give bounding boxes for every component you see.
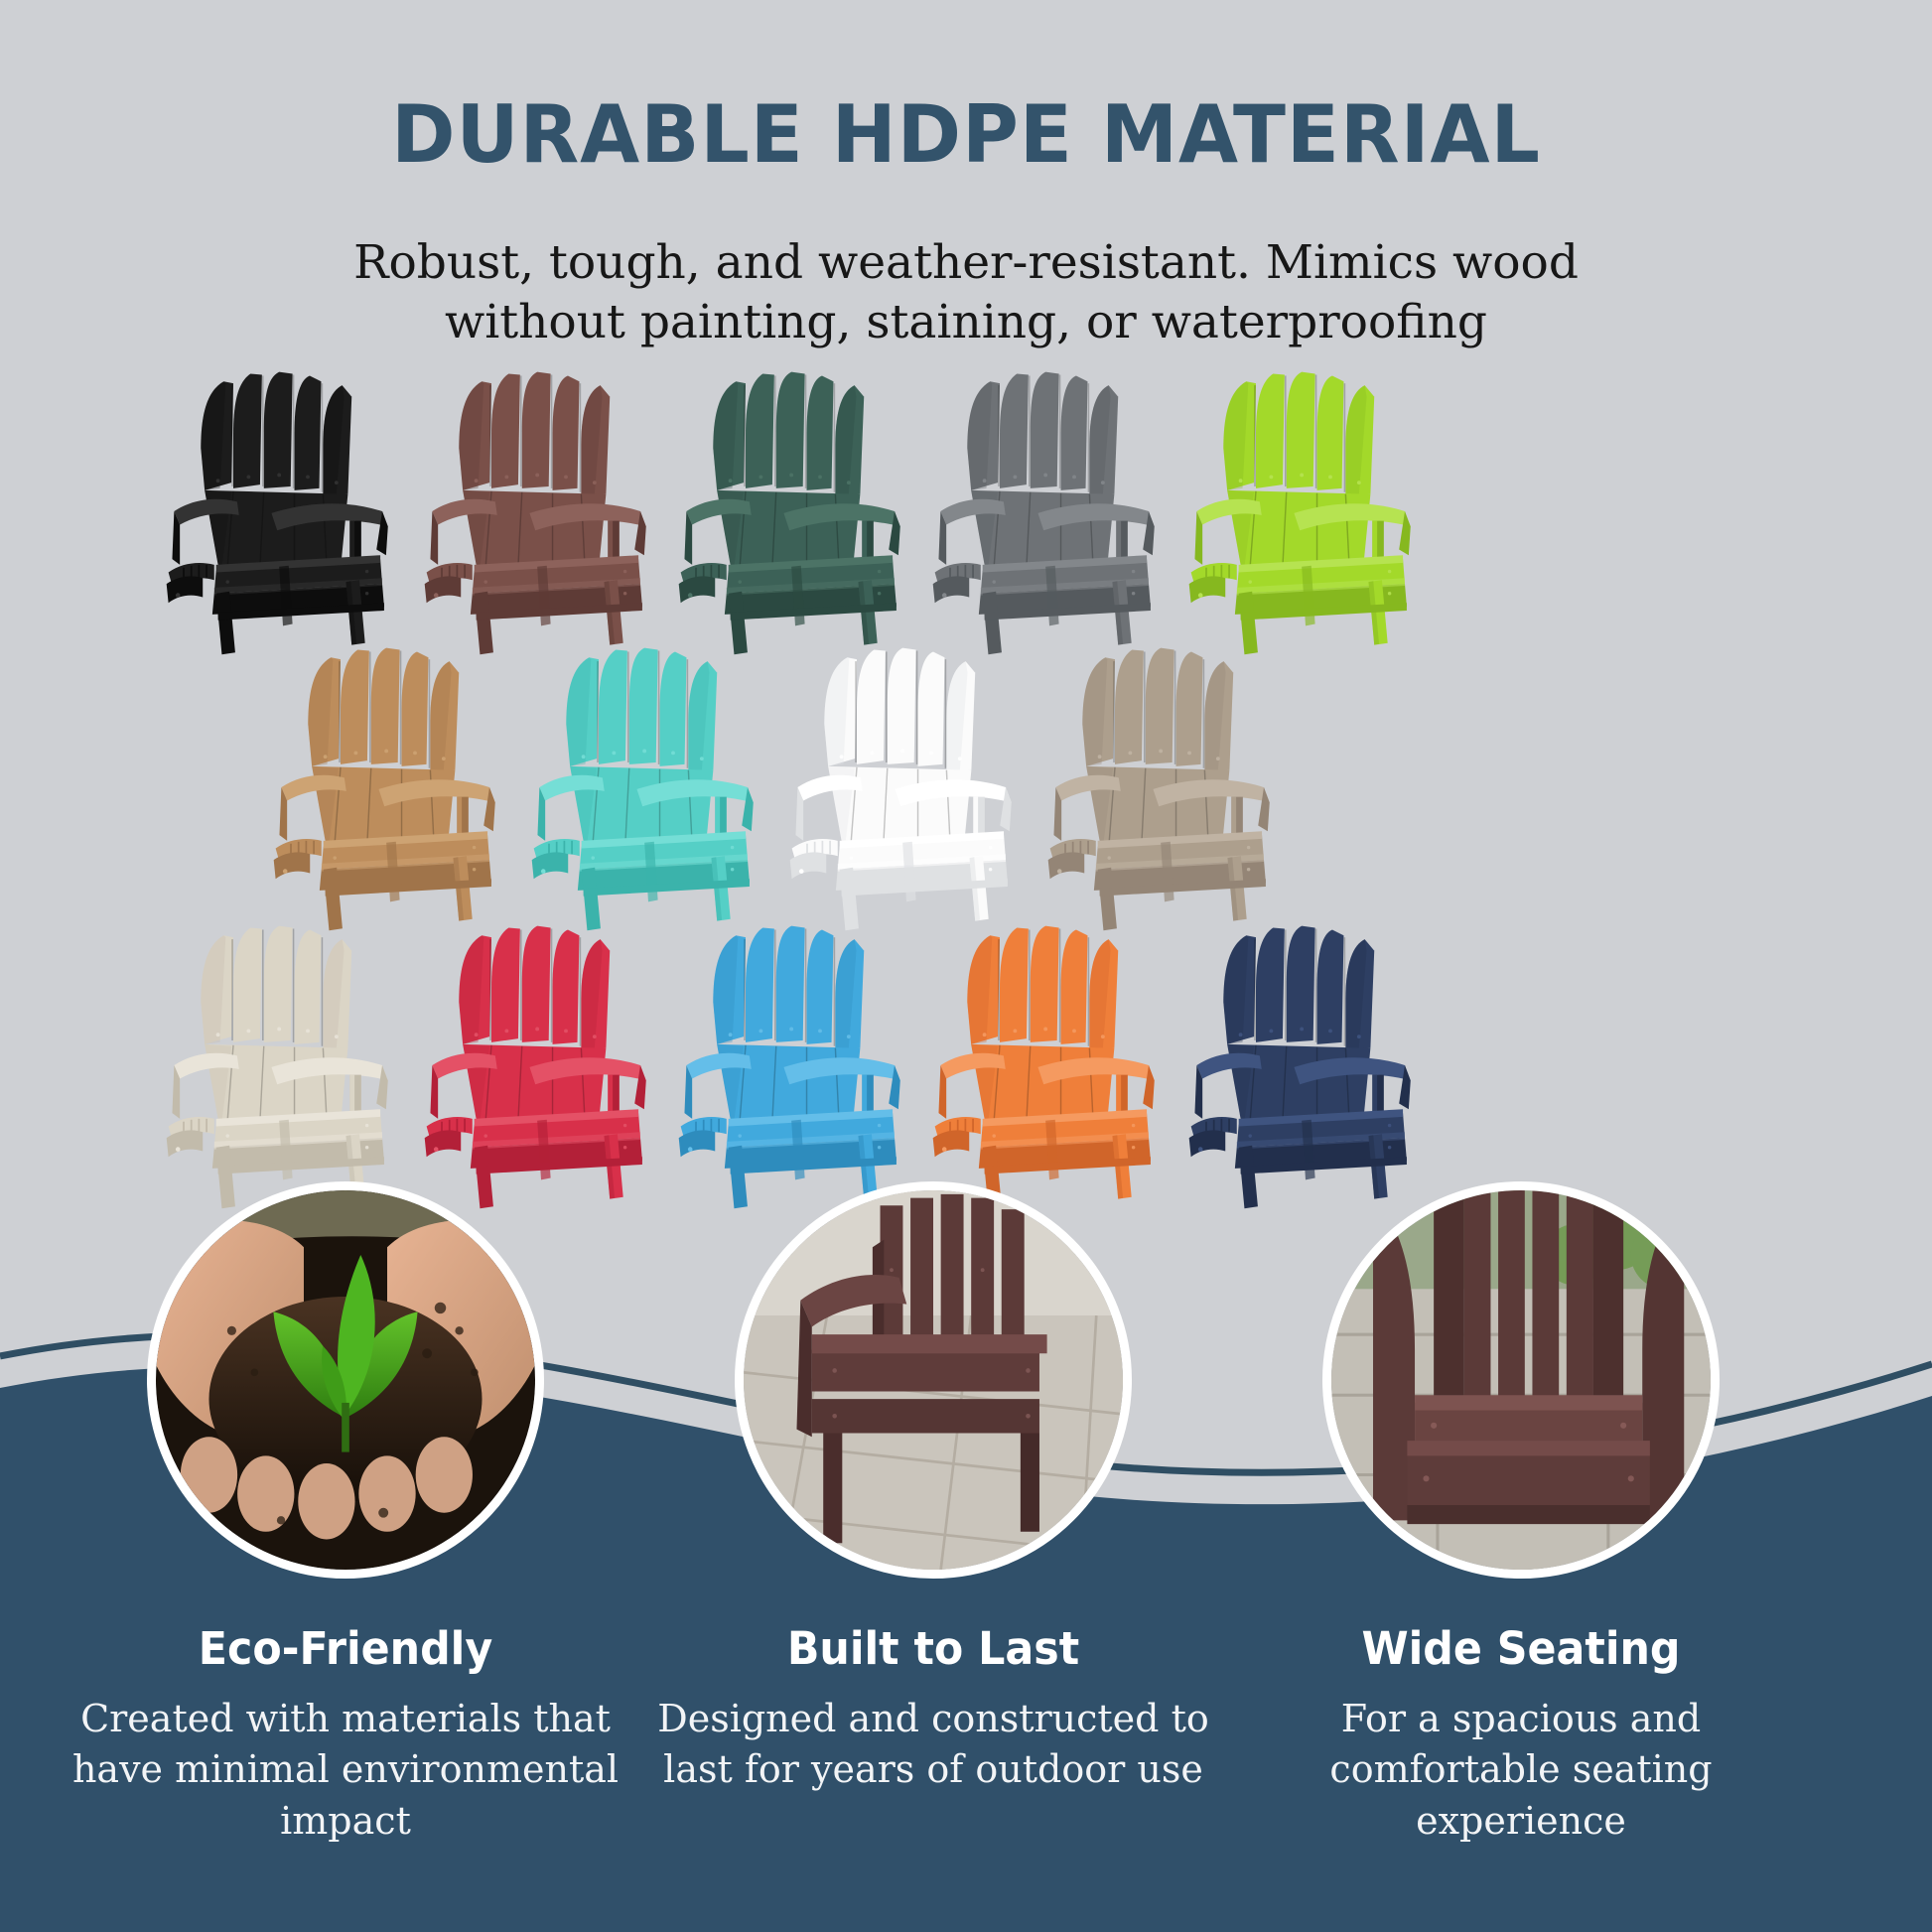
chair-swatch-white bbox=[782, 643, 1031, 931]
chair-swatch-sky-blue bbox=[671, 921, 919, 1209]
chair-swatch-orange bbox=[925, 921, 1173, 1209]
feature-title-eco-friendly: Eco-Friendly bbox=[81, 1626, 610, 1671]
chair-swatch-navy-blue bbox=[1181, 921, 1430, 1209]
chair-swatch-dark-brown bbox=[417, 367, 665, 655]
page-title: DURABLE HDPE MATERIAL bbox=[29, 95, 1903, 175]
feature-description-wide-seating: For a spacious and comfortable seating e… bbox=[1223, 1694, 1819, 1847]
chair-swatch-turquoise bbox=[524, 643, 772, 931]
chair-swatch-ivory bbox=[159, 921, 407, 1209]
feature-image-built-to-last bbox=[735, 1181, 1132, 1579]
chair-swatch-teak-brown bbox=[266, 643, 514, 931]
chair-swatch-gray bbox=[925, 367, 1173, 655]
feature-title-wide-seating: Wide Seating bbox=[1257, 1626, 1785, 1671]
page-subtitle: Robust, tough, and weather-resistant. Mi… bbox=[291, 233, 1641, 352]
chair-swatch-black bbox=[159, 367, 407, 655]
chair-swatch-forest-green bbox=[671, 367, 919, 655]
feature-image-eco-friendly bbox=[147, 1181, 544, 1579]
feature-description-eco-friendly: Created with materials that have minimal… bbox=[48, 1694, 643, 1847]
chair-swatch-red bbox=[417, 921, 665, 1209]
chair-swatch-lime-green bbox=[1181, 367, 1430, 655]
chair-swatch-weathered-wood bbox=[1040, 643, 1289, 931]
feature-description-built-to-last: Designed and constructed to last for yea… bbox=[635, 1694, 1231, 1796]
feature-image-wide-seating bbox=[1322, 1181, 1720, 1579]
feature-title-built-to-last: Built to Last bbox=[669, 1626, 1197, 1671]
